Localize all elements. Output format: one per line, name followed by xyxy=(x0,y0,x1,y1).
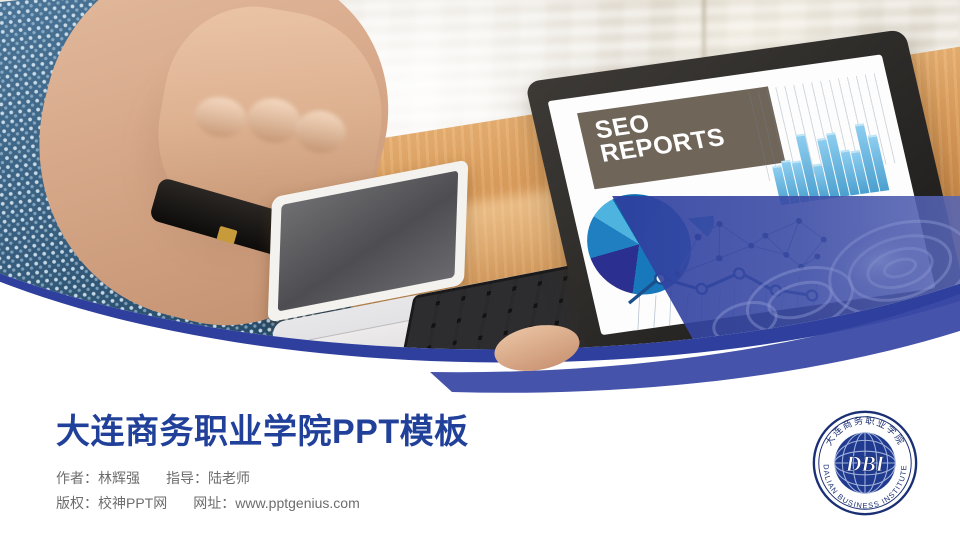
website-label: 网址：www.pptgenius.com xyxy=(193,495,360,511)
author-line: 作者：林辉强指导：陆老师 xyxy=(56,468,250,488)
university-logo: DBI DALIAN BUSINESS INSTITUTE 大连商务职业学院 xyxy=(806,404,924,522)
advisor-label: 指导：陆老师 xyxy=(166,470,250,486)
author-label: 作者：林辉强 xyxy=(56,470,140,486)
copyright-label: 版权：校神PPT网 xyxy=(56,495,167,511)
slide-canvas: SEO REPORTS xyxy=(0,0,960,540)
logo-acronym: DBI xyxy=(845,452,886,476)
page-title: 大连商务职业学院PPT模板 xyxy=(56,404,469,453)
copyright-line: 版权：校神PPT网网址：www.pptgenius.com xyxy=(56,493,360,513)
